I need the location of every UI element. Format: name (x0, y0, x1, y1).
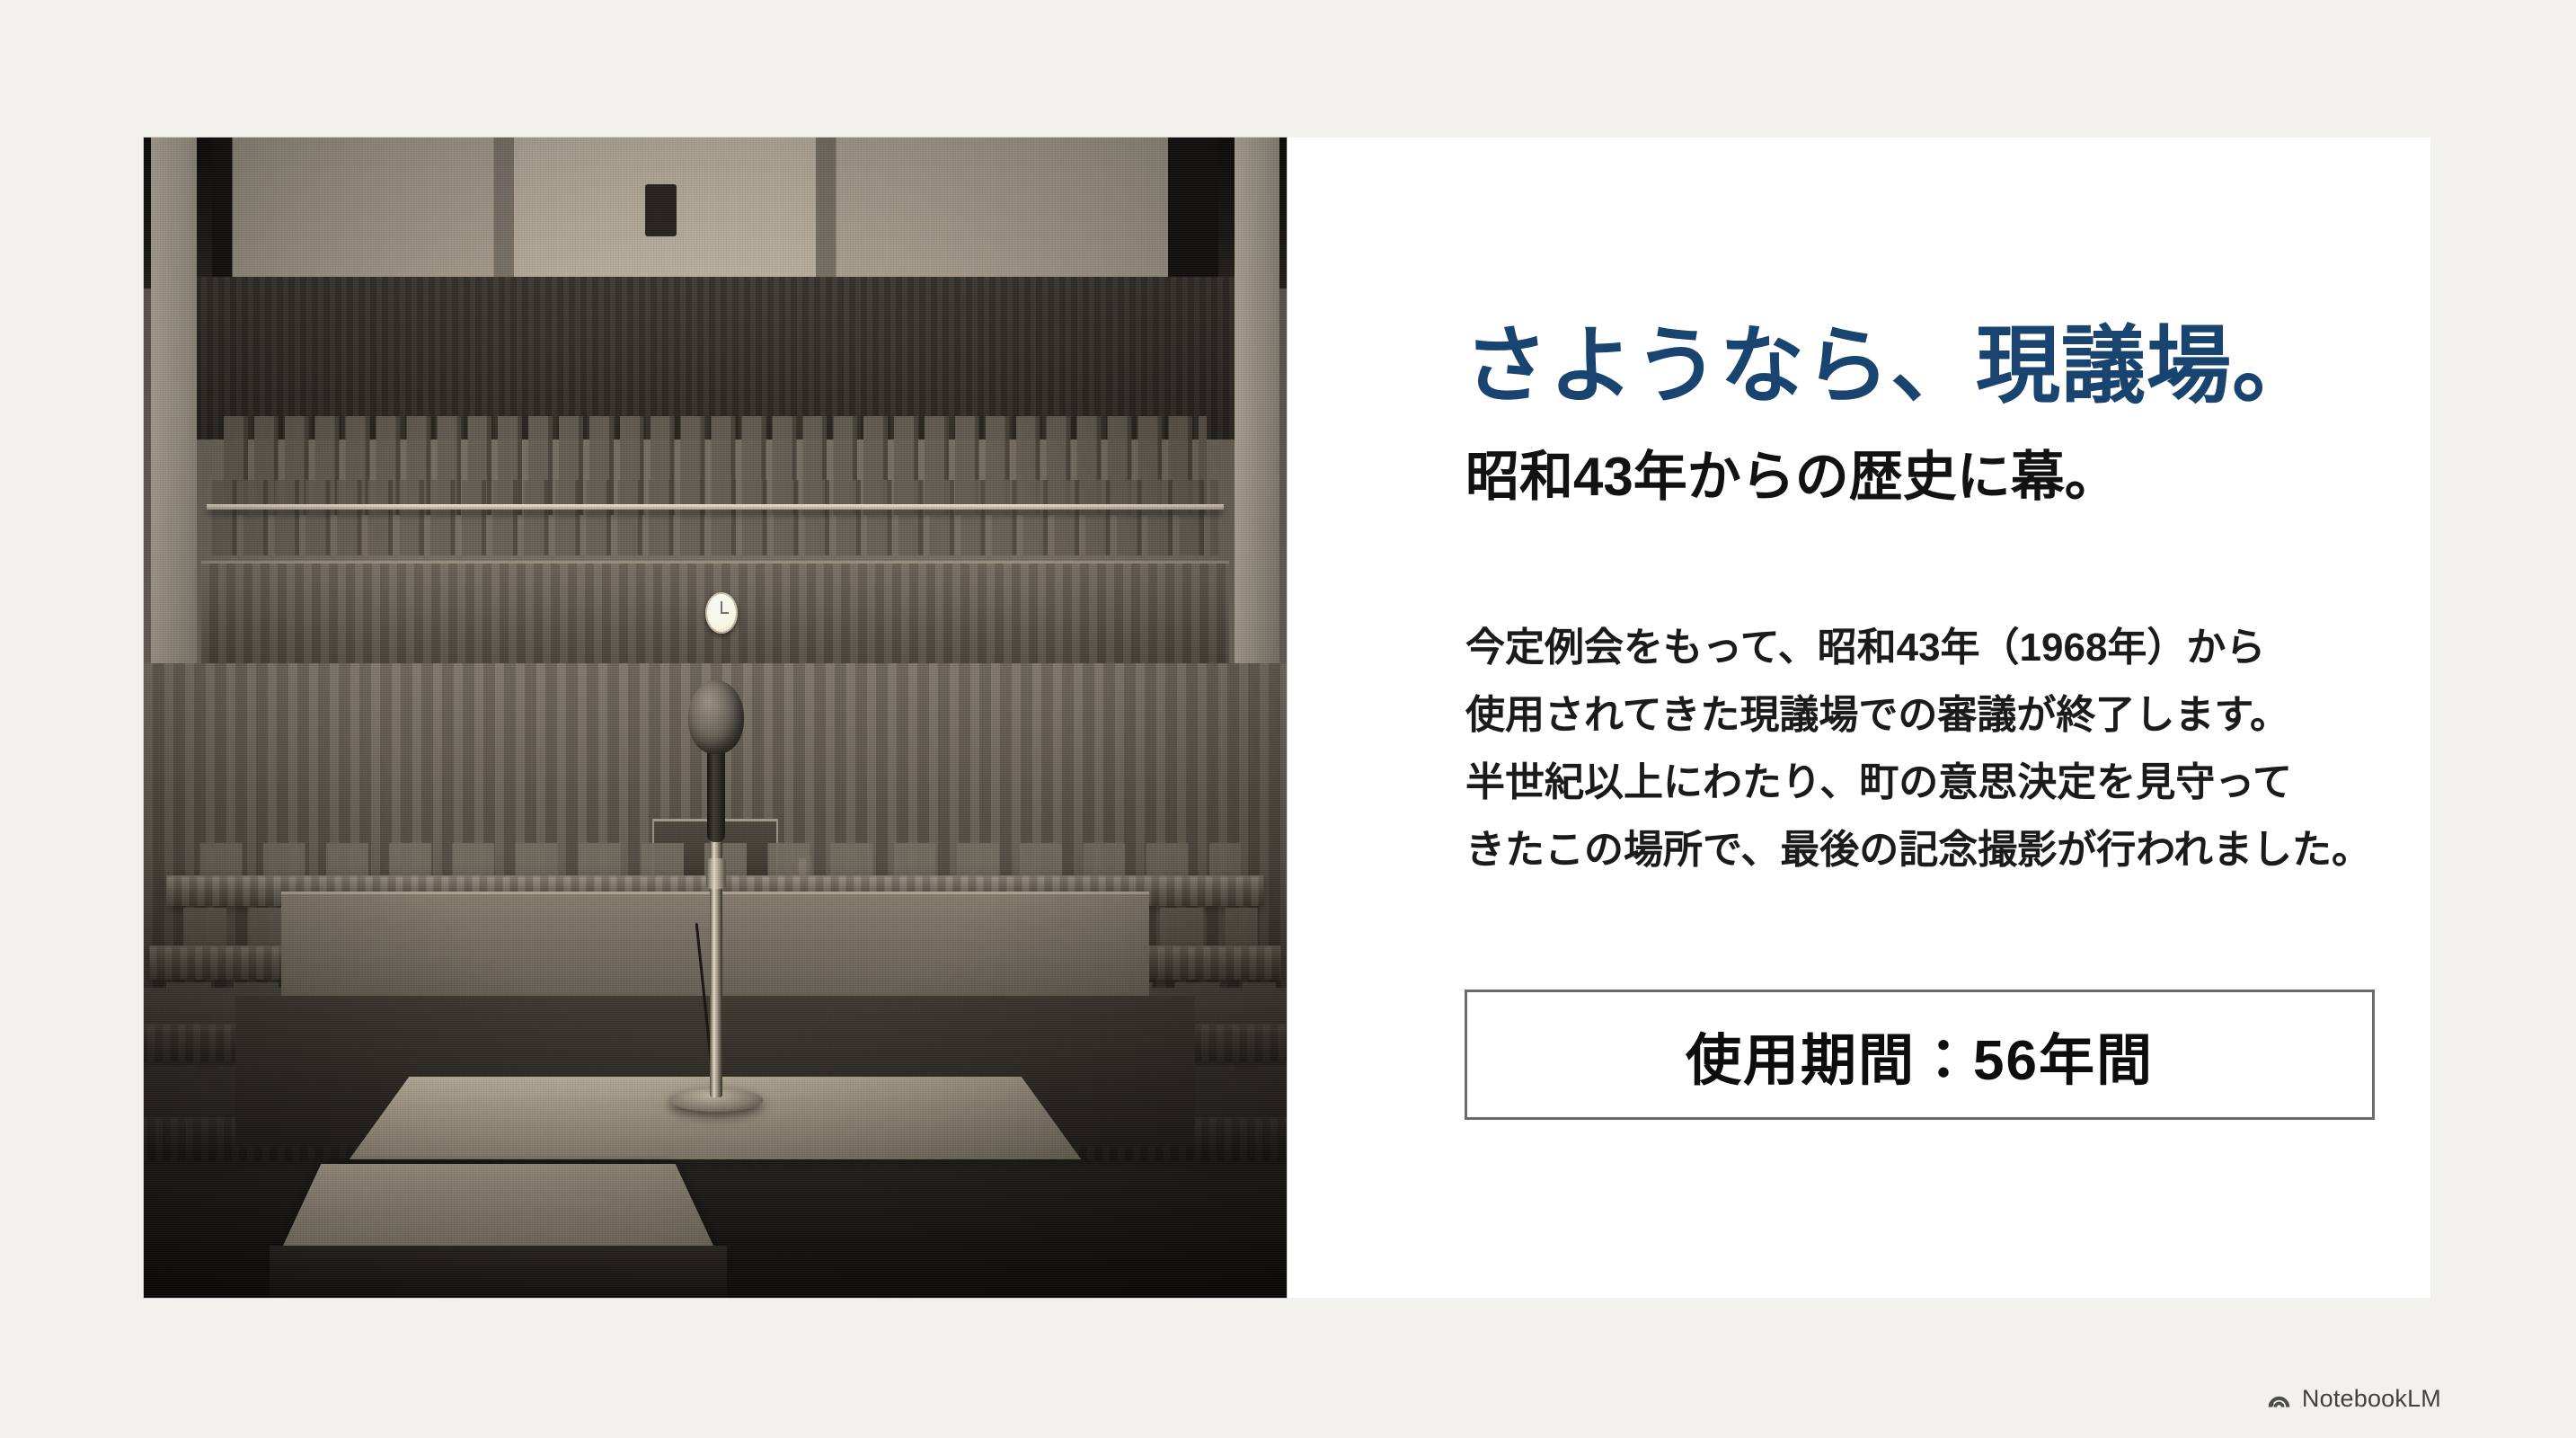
body-line: 使用されてきた現議場での審議が終了します。 (1465, 681, 2364, 749)
balcony-handrail (207, 504, 1224, 510)
page-title: さようなら、現議場。 (1464, 324, 2317, 408)
upper-dark-wood-band (178, 277, 1253, 439)
slide-canvas: さようなら、現議場。 昭和43年からの歴史に幕。 今定例会をもって、昭和43年（… (0, 0, 2576, 1438)
body-line: きたこの場所で、最後の記念撮影が行われました。 (1465, 816, 2364, 883)
microphone-stem (710, 801, 722, 1097)
podium-front-face (270, 1246, 727, 1298)
body-copy: 今定例会をもって、昭和43年（1968年）から 使用されてきた現議場での審議が終… (1465, 614, 2364, 883)
chamber-photo (144, 138, 1287, 1298)
usage-period-label: 使用期間：56年間 (1686, 1015, 2154, 1096)
notebooklm-spiral-icon (2266, 1386, 2292, 1412)
microphone-joint (706, 858, 726, 889)
usage-period-callout: 使用期間：56年間 (1465, 990, 2375, 1120)
page-subtitle: 昭和43年からの歴史に幕。 (1465, 450, 2119, 504)
microphone-head (688, 680, 744, 754)
body-line: 今定例会をもって、昭和43年（1968年）から (1465, 614, 2364, 681)
balcony-seats-row-2 (212, 480, 1217, 555)
text-card: さようなら、現議場。 昭和43年からの歴史に幕。 今定例会をもって、昭和43年（… (1288, 138, 2430, 1298)
photo-scene (144, 138, 1287, 1298)
notebooklm-watermark: NotebookLM (2266, 1385, 2441, 1413)
body-line: 半世紀以上にわたり、町の意思決定を見守って (1465, 749, 2364, 816)
wall-clock-icon (705, 592, 738, 634)
notebooklm-label: NotebookLM (2302, 1385, 2441, 1413)
upper-wall-panels (212, 138, 1217, 282)
